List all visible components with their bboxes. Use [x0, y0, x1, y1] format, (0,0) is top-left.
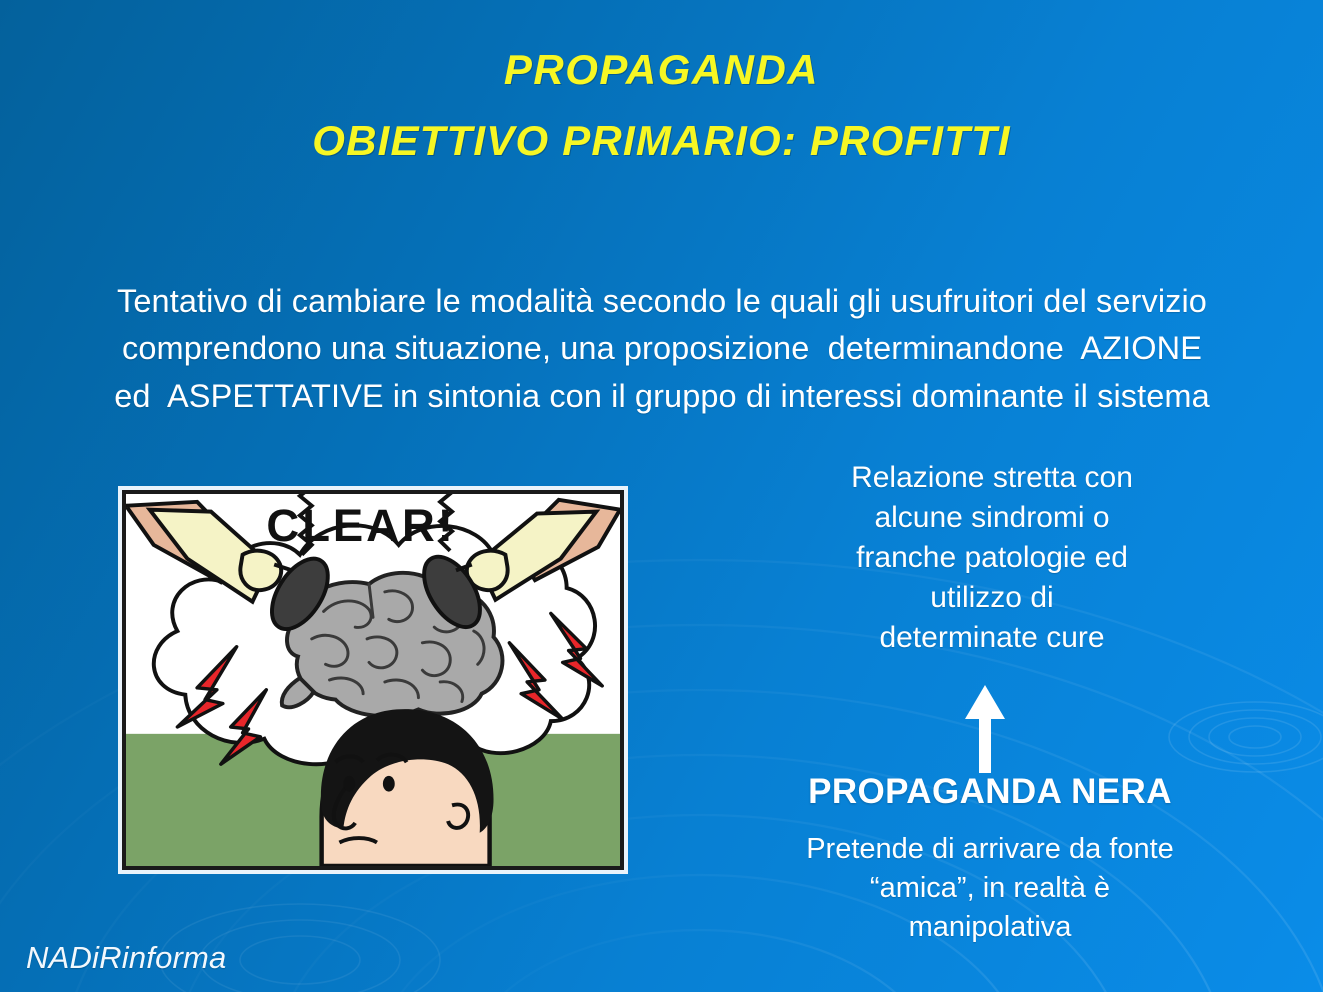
body-paragraph-line-3: ed ASPETTATIVE in sintonia con il gruppo… [22, 373, 1302, 420]
slide-canvas: PROPAGANDA OBIETTIVO PRIMARIO: PROFITTI … [0, 0, 1323, 992]
body-paragraph-line-1: Tentativo di cambiare le modalità second… [22, 278, 1302, 325]
black-propaganda-caption-line-3: manipolativa [755, 908, 1225, 947]
cartoon-frame: CLEAR! [122, 490, 624, 870]
black-propaganda-caption-line-2: “amica”, in realtà è [755, 869, 1225, 908]
watermark-label: NADiRinforma [26, 940, 227, 976]
slide-title-block: PROPAGANDA OBIETTIVO PRIMARIO: PROFITTI [0, 48, 1323, 163]
page-title-line-2: OBIETTIVO PRIMARIO: PROFITTI [0, 119, 1323, 164]
right-note-line-4: utilizzo di [782, 578, 1202, 618]
right-note-line-2: alcune sindromi o [782, 498, 1202, 538]
cartoon-clear-text: CLEAR! [266, 500, 455, 551]
black-propaganda-caption: Pretende di arrivare da fonte “amica”, i… [755, 830, 1225, 947]
right-column-note: Relazione stretta con alcune sindromi o … [782, 458, 1202, 657]
right-note-line-1: Relazione stretta con [782, 458, 1202, 498]
body-paragraph: Tentativo di cambiare le modalità second… [22, 278, 1302, 420]
cartoon-illustration: CLEAR! [118, 486, 628, 874]
right-note-line-5: determinate cure [782, 618, 1202, 658]
body-paragraph-line-2: comprendono una situazione, una proposiz… [22, 325, 1302, 372]
right-note-line-3: franche patologie ed [782, 538, 1202, 578]
black-propaganda-caption-line-1: Pretende di arrivare da fonte [755, 830, 1225, 869]
up-arrow-icon [955, 683, 1015, 775]
black-propaganda-heading: PROPAGANDA NERA [760, 772, 1220, 812]
page-title-line-1: PROPAGANDA [0, 48, 1323, 93]
